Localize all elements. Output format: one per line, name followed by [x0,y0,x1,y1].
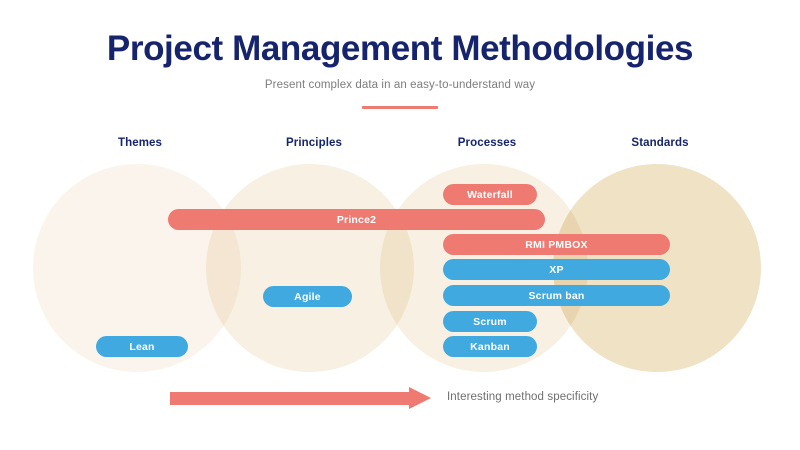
specificity-arrow-group: Interesting method specificity [0,0,800,450]
arrow-caption: Interesting method specificity [447,391,598,403]
arrow-right-icon-head [409,387,431,409]
arrow-right-icon-shaft [170,392,410,405]
